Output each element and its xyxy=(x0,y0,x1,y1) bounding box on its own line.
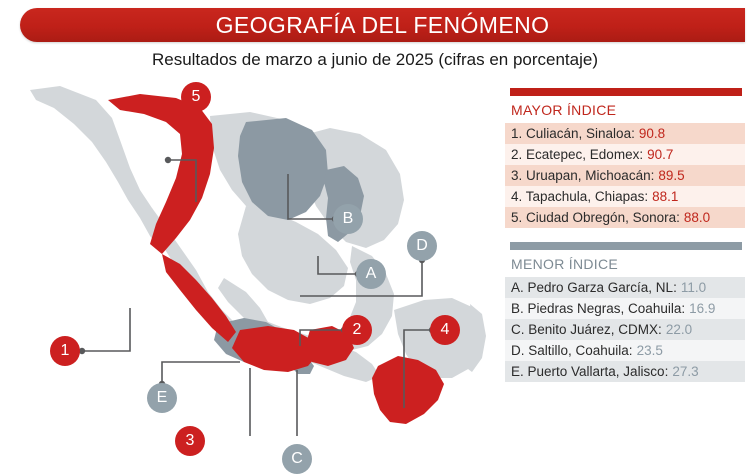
title-bar: GEOGRAFÍA DEL FENÓMENO xyxy=(20,8,745,42)
map-marker-1-label: 1 xyxy=(61,343,70,359)
map-marker-4-label: 4 xyxy=(441,322,450,338)
list-item[interactable]: A. Pedro Garza García, NL: 11.0 xyxy=(505,277,745,298)
list-item-value: 27.3 xyxy=(672,364,698,379)
subtitle: Resultados de marzo a junio de 2025 (cif… xyxy=(0,50,750,70)
highest-list: 1. Culiacán, Sinaloa: 90.8 2. Ecatepec, … xyxy=(505,123,745,228)
list-item[interactable]: E. Puerto Vallarta, Jalisco: 27.3 xyxy=(505,361,745,382)
rankings-panel: MAYOR ÍNDICE 1. Culiacán, Sinaloa: 90.8 … xyxy=(505,88,745,382)
leader-line-3 xyxy=(204,368,250,436)
lowest-section-title: MENOR ÍNDICE xyxy=(505,250,745,277)
list-item-label: B. Piedras Negras, Coahuila: xyxy=(511,301,685,316)
list-item[interactable]: 3. Uruapan, Michoacán: 89.5 xyxy=(505,165,745,186)
page-title: GEOGRAFÍA DEL FENÓMENO xyxy=(216,14,550,37)
list-item-value: 90.7 xyxy=(647,147,673,162)
map-marker-a[interactable]: A xyxy=(356,259,386,289)
list-item-value: 16.9 xyxy=(689,301,715,316)
map-marker-2-label: 2 xyxy=(353,322,362,338)
infographic-root: GEOGRAFÍA DEL FENÓMENO Resultados de mar… xyxy=(0,0,750,436)
list-item-value: 23.5 xyxy=(637,343,663,358)
map-marker-e-label: E xyxy=(157,390,168,406)
list-item-label: D. Saltillo, Coahuila: xyxy=(511,343,633,358)
list-item-label: C. Benito Juárez, CDMX: xyxy=(511,322,662,337)
list-item-label: 3. Uruapan, Michoacán: xyxy=(511,168,654,183)
map-marker-3-label: 3 xyxy=(186,433,195,449)
list-item-label: A. Pedro Garza García, NL: xyxy=(511,280,677,295)
list-item[interactable]: 4. Tapachula, Chiapas: 88.1 xyxy=(505,186,745,207)
list-item-label: 1. Culiacán, Sinaloa: xyxy=(511,126,635,141)
highest-section-title: MAYOR ÍNDICE xyxy=(505,96,745,123)
map-marker-b[interactable]: B xyxy=(333,204,363,234)
map-marker-3[interactable]: 3 xyxy=(175,426,205,456)
leader-line-E xyxy=(162,362,240,384)
map-marker-2[interactable]: 2 xyxy=(342,315,372,345)
lowest-list: A. Pedro Garza García, NL: 11.0 B. Piedr… xyxy=(505,277,745,382)
map-marker-5[interactable]: 5 xyxy=(181,82,211,112)
leader-dot-5 xyxy=(165,157,171,163)
list-item-value: 88.1 xyxy=(652,189,678,204)
lowest-section-bar xyxy=(510,242,742,250)
map-marker-d-label: D xyxy=(416,238,428,254)
section-divider xyxy=(505,228,745,242)
list-item-value: 88.0 xyxy=(684,210,710,225)
list-item[interactable]: C. Benito Juárez, CDMX: 22.0 xyxy=(505,319,745,340)
list-item-label: 4. Tapachula, Chiapas: xyxy=(511,189,648,204)
map-marker-e[interactable]: E xyxy=(147,383,177,413)
list-item[interactable]: 1. Culiacán, Sinaloa: 90.8 xyxy=(505,123,745,144)
list-item-label: 2. Ecatepec, Edomex: xyxy=(511,147,643,162)
list-item-label: E. Puerto Vallarta, Jalisco: xyxy=(511,364,668,379)
list-item[interactable]: 5. Ciudad Obregón, Sonora: 88.0 xyxy=(505,207,745,228)
list-item-value: 22.0 xyxy=(666,322,692,337)
map-marker-c-label: C xyxy=(291,451,303,467)
map-marker-5-label: 5 xyxy=(192,89,201,105)
list-item[interactable]: D. Saltillo, Coahuila: 23.5 xyxy=(505,340,745,361)
mexico-map: 1 2 3 4 5 A B C D E xyxy=(0,78,500,436)
map-marker-b-label: B xyxy=(343,211,354,227)
state-sinaloa-highlight xyxy=(162,254,236,342)
map-marker-1[interactable]: 1 xyxy=(50,336,80,366)
map-marker-a-label: A xyxy=(366,266,377,282)
list-item-value: 11.0 xyxy=(681,280,706,295)
list-item-value: 89.5 xyxy=(658,168,684,183)
list-item-value: 90.8 xyxy=(639,126,665,141)
highest-section-bar xyxy=(510,88,742,96)
list-item-label: 5. Ciudad Obregón, Sonora: xyxy=(511,210,680,225)
map-marker-4[interactable]: 4 xyxy=(430,315,460,345)
leader-line-1 xyxy=(82,308,130,351)
list-item[interactable]: 2. Ecatepec, Edomex: 90.7 xyxy=(505,144,745,165)
list-item[interactable]: B. Piedras Negras, Coahuila: 16.9 xyxy=(505,298,745,319)
map-marker-c[interactable]: C xyxy=(282,444,312,474)
map-marker-d[interactable]: D xyxy=(407,231,437,261)
